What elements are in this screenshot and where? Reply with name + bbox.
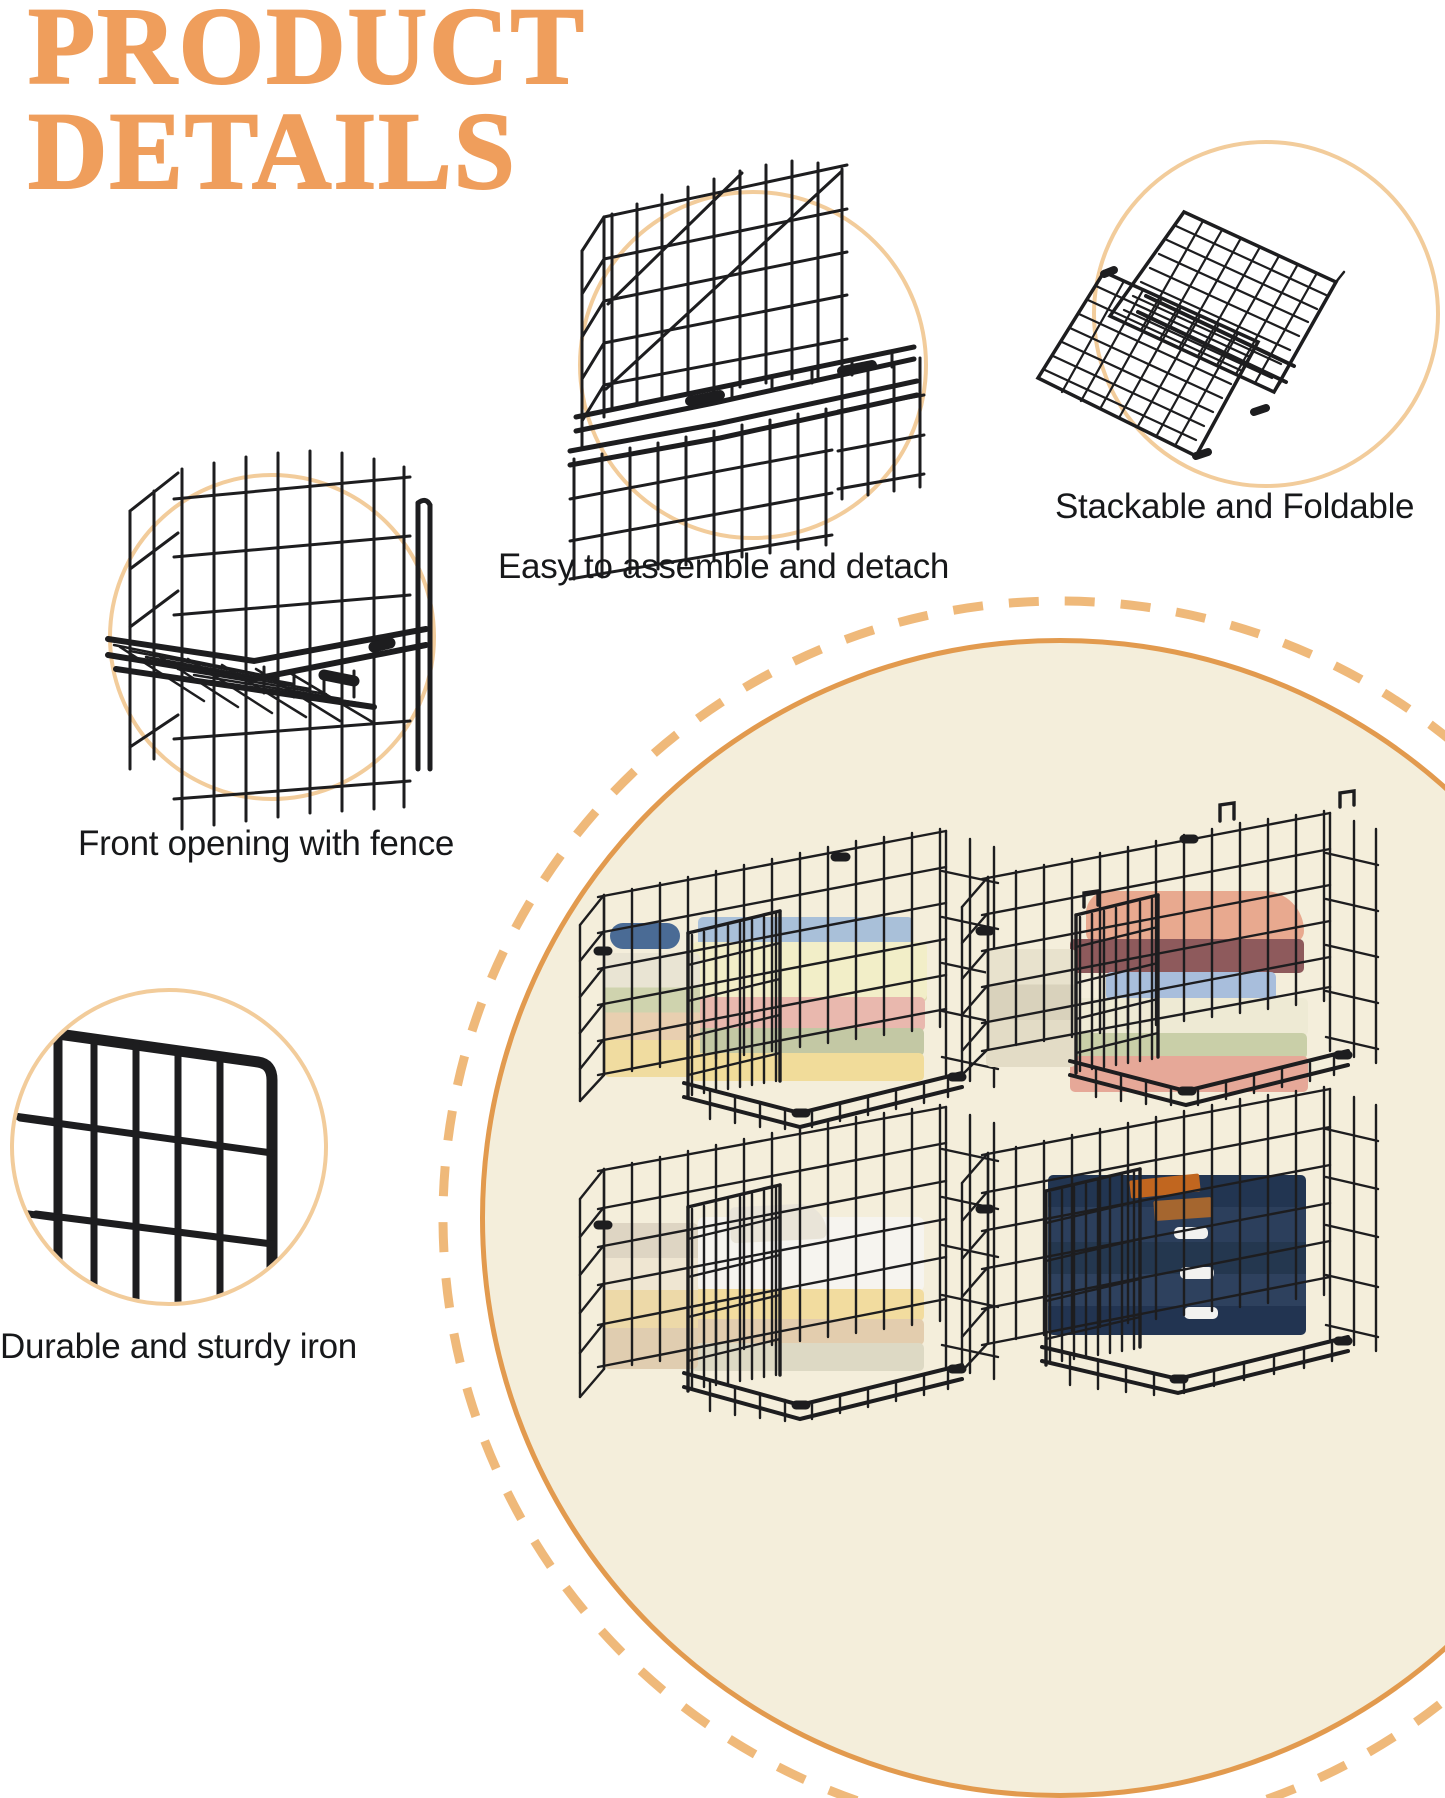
inset-circle-fold bbox=[1092, 140, 1440, 488]
inset-circle-iron bbox=[10, 988, 328, 1306]
inset-clip-iron bbox=[14, 992, 324, 1302]
caption-durable-iron: Durable and sturdy iron bbox=[0, 1327, 357, 1367]
caption-front-opening-fence: Front opening with fence bbox=[78, 824, 454, 864]
hero-clip bbox=[430, 600, 1445, 1449]
basket-top-left bbox=[580, 825, 1010, 1125]
caption-easy-to-assemble: Easy to assemble and detach bbox=[498, 547, 949, 587]
hero-product-photo bbox=[430, 600, 1445, 1449]
wireframe-bottom-left bbox=[580, 1105, 1010, 1445]
basket-top-right bbox=[958, 799, 1378, 1119]
wireframe-top-left bbox=[580, 825, 1010, 1135]
inset-circle-assemble bbox=[578, 190, 928, 540]
wire-basket-assembly-icon bbox=[542, 159, 962, 579]
front-opening-fence-icon bbox=[74, 439, 474, 839]
iron-wire-grid-icon bbox=[14, 992, 324, 1302]
caption-stackable-foldable: Stackable and Foldable bbox=[1055, 487, 1414, 527]
wireframe-top-right bbox=[958, 799, 1378, 1129]
basket-bottom-left bbox=[580, 1105, 1010, 1435]
basket-stack bbox=[580, 785, 1360, 1449]
basket-bottom-right bbox=[958, 1081, 1378, 1411]
inset-circle-fence bbox=[108, 473, 436, 801]
wireframe-bottom-right bbox=[958, 1081, 1378, 1421]
